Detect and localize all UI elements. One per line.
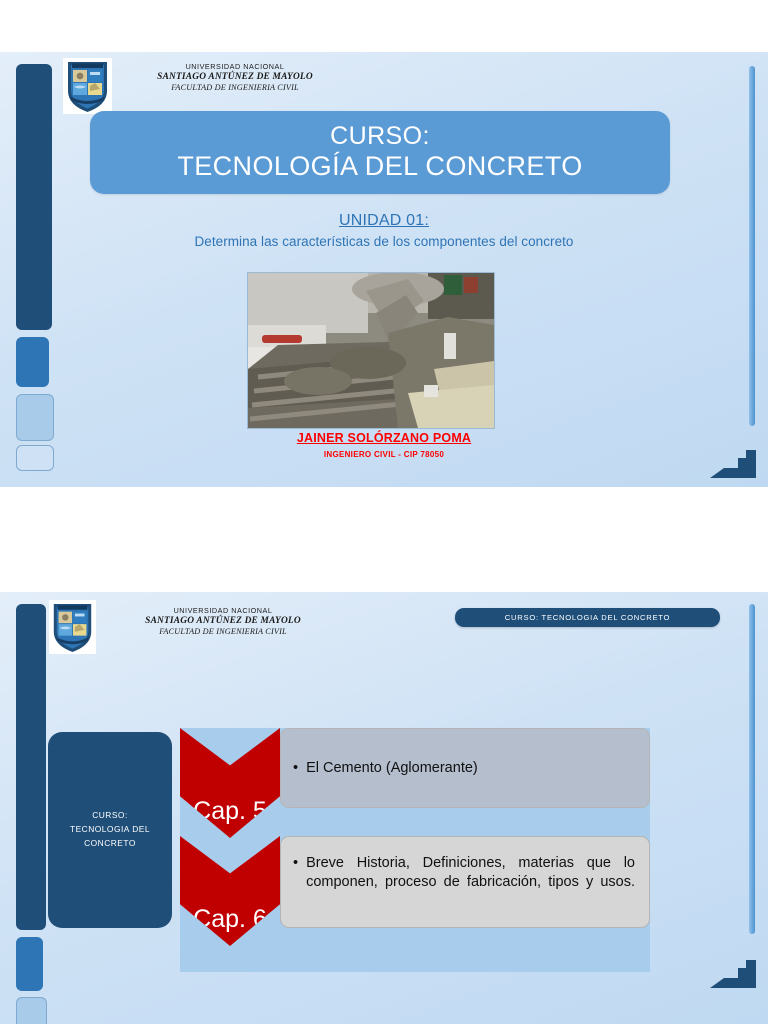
slide2-logo-box (49, 600, 96, 654)
concrete-pour-photo (247, 272, 495, 429)
concrete-pour-illustration (248, 273, 494, 428)
course-side-panel: CURSO: TECNOLOGIA DEL CONCRETO (48, 732, 172, 928)
side-panel-line-2: TECNOLOGIA DEL (70, 823, 150, 837)
rail-bar-large (16, 604, 46, 930)
university-crest-icon (63, 58, 112, 114)
slide2-institution-name: UNIVERSIDAD NACIONAL SANTIAGO ANTÚNEZ DE… (108, 606, 338, 638)
rail-bar-large (16, 64, 52, 330)
bullet-icon: • (293, 854, 298, 910)
rail-bar-medium (16, 937, 43, 991)
slide1-logo-box (63, 58, 112, 114)
slide-1[interactable]: UNIVERSIDAD NACIONAL SANTIAGO ANTÚNEZ DE… (0, 52, 768, 487)
institution-line-1: UNIVERSIDAD NACIONAL (108, 606, 338, 615)
presenter-role: INGENIERO CIVIL - CIP 78050 (0, 450, 768, 459)
bullet-icon: • (293, 759, 298, 778)
presenter-name: JAINER SOLÓRZANO POMA (0, 431, 768, 445)
course-badge[interactable]: CURSO: TECNOLOGIA DEL CONCRETO (455, 608, 720, 627)
chapter-label-6: Cap. 6 (193, 905, 267, 934)
institution-line-3: FACULTAD DE INGENIERIA CIVIL (108, 627, 338, 638)
rail-bar-medium (16, 337, 49, 387)
chapter-content-6[interactable]: • Breve Historia, Definiciones, materias… (280, 836, 650, 928)
course-title-line-2: TECNOLOGÍA DEL CONCRETO (177, 151, 582, 183)
chapter-text-5: El Cemento (Aglomerante) (306, 759, 635, 778)
chapter-content-5[interactable]: • El Cemento (Aglomerante) (280, 728, 650, 808)
slide1-institution-name: UNIVERSIDAD NACIONAL SANTIAGO ANTÚNEZ DE… (120, 62, 350, 94)
institution-line-3: FACULTAD DE INGENIERIA CIVIL (120, 83, 350, 94)
chapter-label-5: Cap. 5 (193, 797, 267, 826)
course-title-line-1: CURSO: (330, 122, 430, 152)
chapter-text-6: Breve Historia, Definiciones, materias q… (306, 854, 635, 910)
institution-line-2: SANTIAGO ANTÚNEZ DE MAYOLO (120, 71, 350, 83)
slide2-corner-step-icon (710, 960, 756, 988)
side-panel-line-1: CURSO: (70, 809, 150, 823)
institution-line-1: UNIVERSIDAD NACIONAL (120, 62, 350, 71)
slide-2[interactable]: UNIVERSIDAD NACIONAL SANTIAGO ANTÚNEZ DE… (0, 592, 768, 1024)
institution-line-2: SANTIAGO ANTÚNEZ DE MAYOLO (108, 615, 338, 627)
chapter-chevron-6[interactable]: Cap. 6 (180, 836, 280, 946)
unit-description: Determina las características de los com… (0, 234, 768, 249)
unit-block: UNIDAD 01: Determina las características… (0, 212, 768, 249)
chapter-chevron-5[interactable]: Cap. 5 (180, 728, 280, 838)
chapter-diagram: Cap. 5 • El Cemento (Aglomerante) Cap. 6… (180, 728, 650, 972)
rail-bar-small (16, 997, 47, 1024)
presenter-block: JAINER SOLÓRZANO POMA INGENIERO CIVIL - … (0, 431, 768, 459)
university-crest-icon (49, 600, 96, 654)
unit-label: UNIDAD 01: (339, 212, 429, 230)
slide2-right-bar (749, 604, 755, 934)
side-panel-line-3: CONCRETO (70, 837, 150, 851)
course-title-banner: CURSO: TECNOLOGÍA DEL CONCRETO (90, 111, 670, 194)
